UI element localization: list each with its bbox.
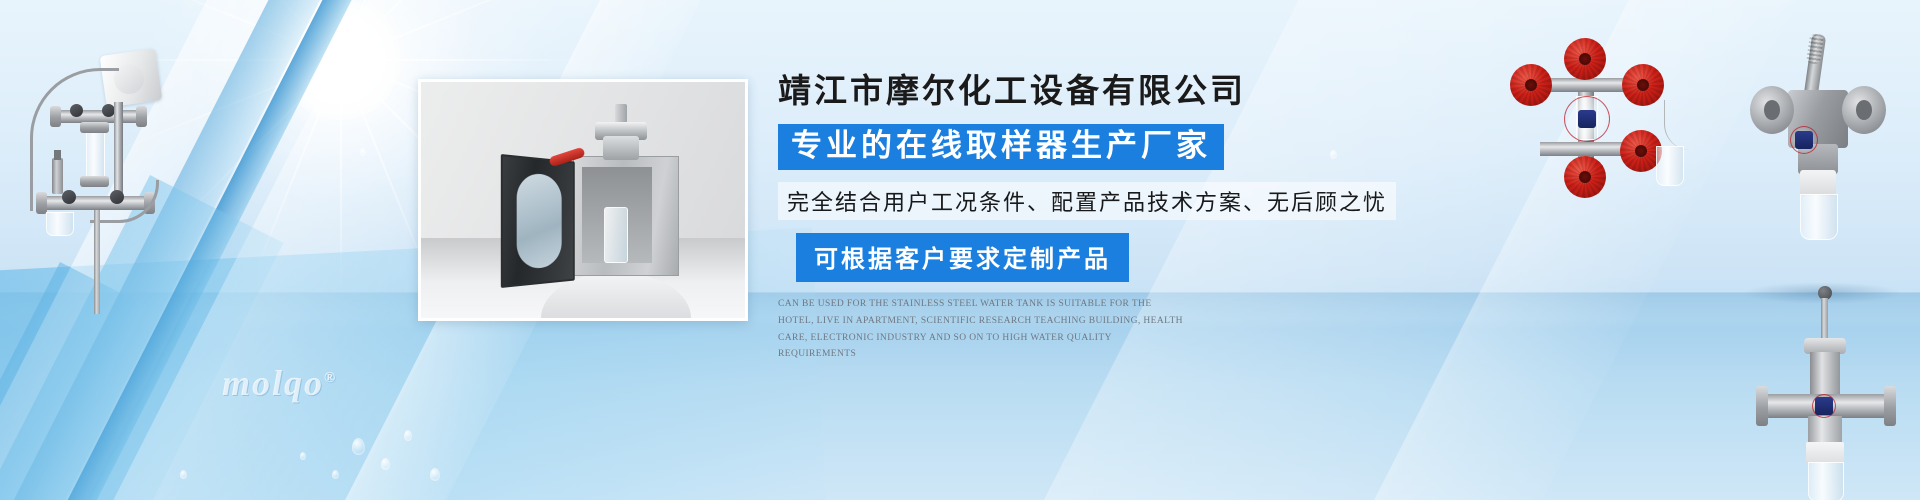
brand-stamp-icon (1812, 394, 1836, 418)
water-droplet (360, 148, 366, 156)
relief-valve (52, 158, 63, 194)
watermark-logo: molqo® (222, 362, 337, 404)
company-name: 靖江市摩尔化工设备有限公司 (778, 72, 1398, 113)
water-droplet (352, 438, 365, 455)
probe-rod (94, 210, 100, 314)
water-droplet (180, 470, 187, 479)
english-description: CAN BE USED FOR THE STAINLESS STEEL WATE… (778, 296, 1190, 363)
banner-text-block: 靖江市摩尔化工设备有限公司 专业的在线取样器生产厂家 完全结合用户工况条件、配置… (778, 72, 1398, 363)
headline-badge: 专业的在线取样器生产厂家 (778, 124, 1224, 170)
product-flanged-lever-sampler (1742, 34, 1912, 254)
product-inline-bottle-sampler (1752, 282, 1902, 500)
product-photo-cabinet-sampler (418, 79, 748, 321)
water-droplet (381, 458, 390, 470)
sample-bottle (604, 207, 628, 263)
valve-handwheel (1510, 64, 1552, 106)
valve-handwheel (1622, 64, 1664, 106)
sampler-head (589, 104, 653, 162)
sample-bottle (1800, 194, 1838, 240)
sampler-cabinet (573, 156, 679, 276)
brand-stamp-icon (1790, 126, 1818, 154)
promotional-banner: 靖江市摩尔化工设备有限公司 专业的在线取样器生产厂家 完全结合用户工况条件、配置… (0, 0, 1920, 500)
water-droplet (332, 470, 339, 479)
registered-mark-icon: ® (324, 370, 337, 386)
sight-glass (86, 128, 105, 182)
sample-bottle (46, 212, 74, 236)
water-droplet (430, 468, 440, 481)
cabinet-door (501, 154, 575, 288)
sample-bottle (1656, 146, 1684, 186)
sample-bottle (1808, 462, 1844, 500)
valve-handwheel (1564, 38, 1606, 80)
callout-badge: 可根据客户要求定制产品 (796, 233, 1129, 282)
water-droplet (300, 452, 306, 460)
water-droplet (404, 430, 412, 441)
brand-stamp-icon (1564, 96, 1610, 142)
watermark-text: molqo (222, 363, 324, 403)
product-wall-mounted-sampler (18, 30, 188, 300)
product-cross-valve-sampler (1498, 34, 1714, 204)
valve-handwheel (1564, 156, 1606, 198)
subheadline: 完全结合用户工况条件、配置产品技术方案、无后顾之忧 (778, 182, 1396, 220)
